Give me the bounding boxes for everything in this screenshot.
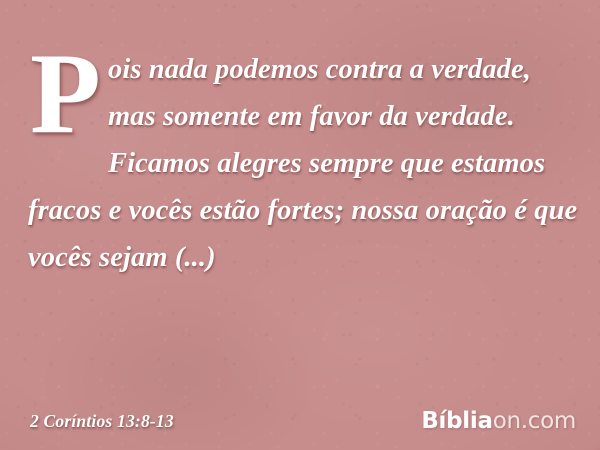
bibliaon-logo[interactable]: Bíbliaon.com	[421, 410, 576, 433]
verse-image-card: Pois nada podemos contra a verdade, mas …	[0, 0, 600, 450]
verse-text-content: ois nada podemos contra a verdade, mas s…	[28, 54, 577, 273]
drop-cap-letter: P	[30, 48, 101, 141]
brand-name-light: on.com	[493, 408, 576, 434]
verse-text: Pois nada podemos contra a verdade, mas …	[28, 46, 580, 281]
scripture-reference: 2 Coríntios 13:8-13	[30, 411, 174, 432]
brand-name-strong: Bíblia	[421, 408, 492, 434]
